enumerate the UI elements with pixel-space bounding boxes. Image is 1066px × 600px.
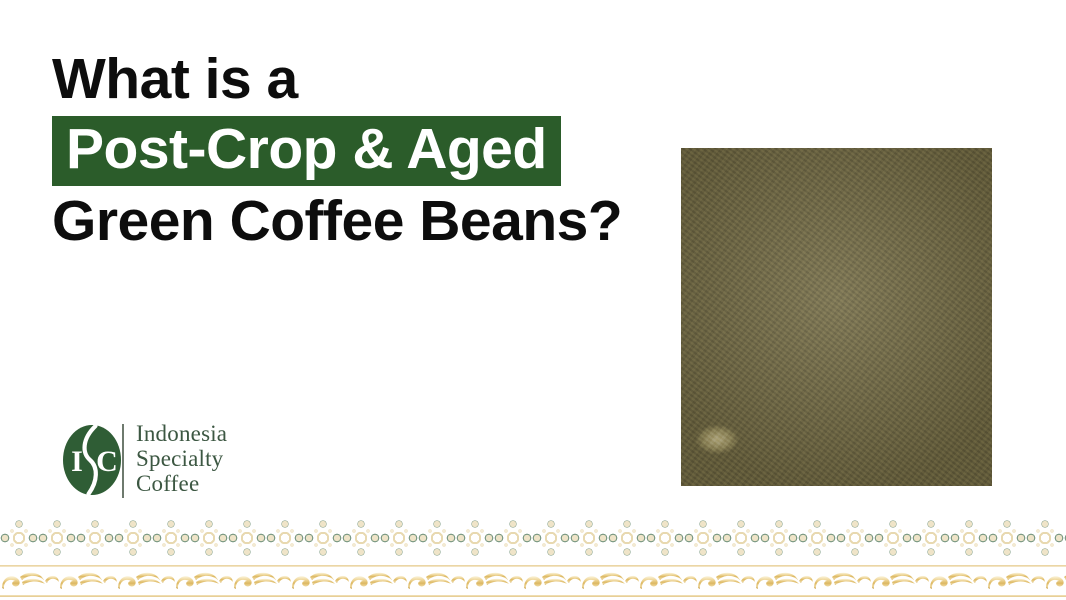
title-line-3: Green Coffee Beans? [52, 186, 672, 256]
batik-diamond-band [0, 515, 1066, 561]
bean-vignette [681, 148, 992, 486]
coffee-beans-photo [681, 148, 992, 486]
isc-logo: I C Indonesia Specialty Coffee [58, 420, 298, 502]
batik-border [0, 515, 1066, 600]
logo-wordmark-line-2: Specialty [136, 446, 227, 471]
svg-text:I: I [71, 445, 83, 478]
logo-wordmark-line-1: Indonesia [136, 421, 227, 446]
page-title: What is a Post-Crop & Aged Green Coffee … [52, 44, 672, 256]
title-highlight-badge: Post-Crop & Aged [52, 116, 561, 186]
batik-rule-top [0, 565, 1066, 567]
coffee-beans-photo-canvas [681, 148, 992, 486]
title-line-2-row: Post-Crop & Aged [52, 114, 672, 186]
logo-wordmark-line-3: Coffee [136, 471, 227, 496]
logo-divider [122, 424, 124, 498]
logo-wordmark: Indonesia Specialty Coffee [136, 421, 227, 496]
batik-gold-scroll-band [0, 568, 1066, 594]
slide-canvas: What is a Post-Crop & Aged Green Coffee … [0, 0, 1066, 600]
title-line-1: What is a [52, 44, 672, 114]
isc-logo-mark-icon: I C [62, 423, 122, 497]
gold-scroll-pattern-icon [0, 568, 1066, 594]
svg-text:C: C [96, 445, 118, 478]
